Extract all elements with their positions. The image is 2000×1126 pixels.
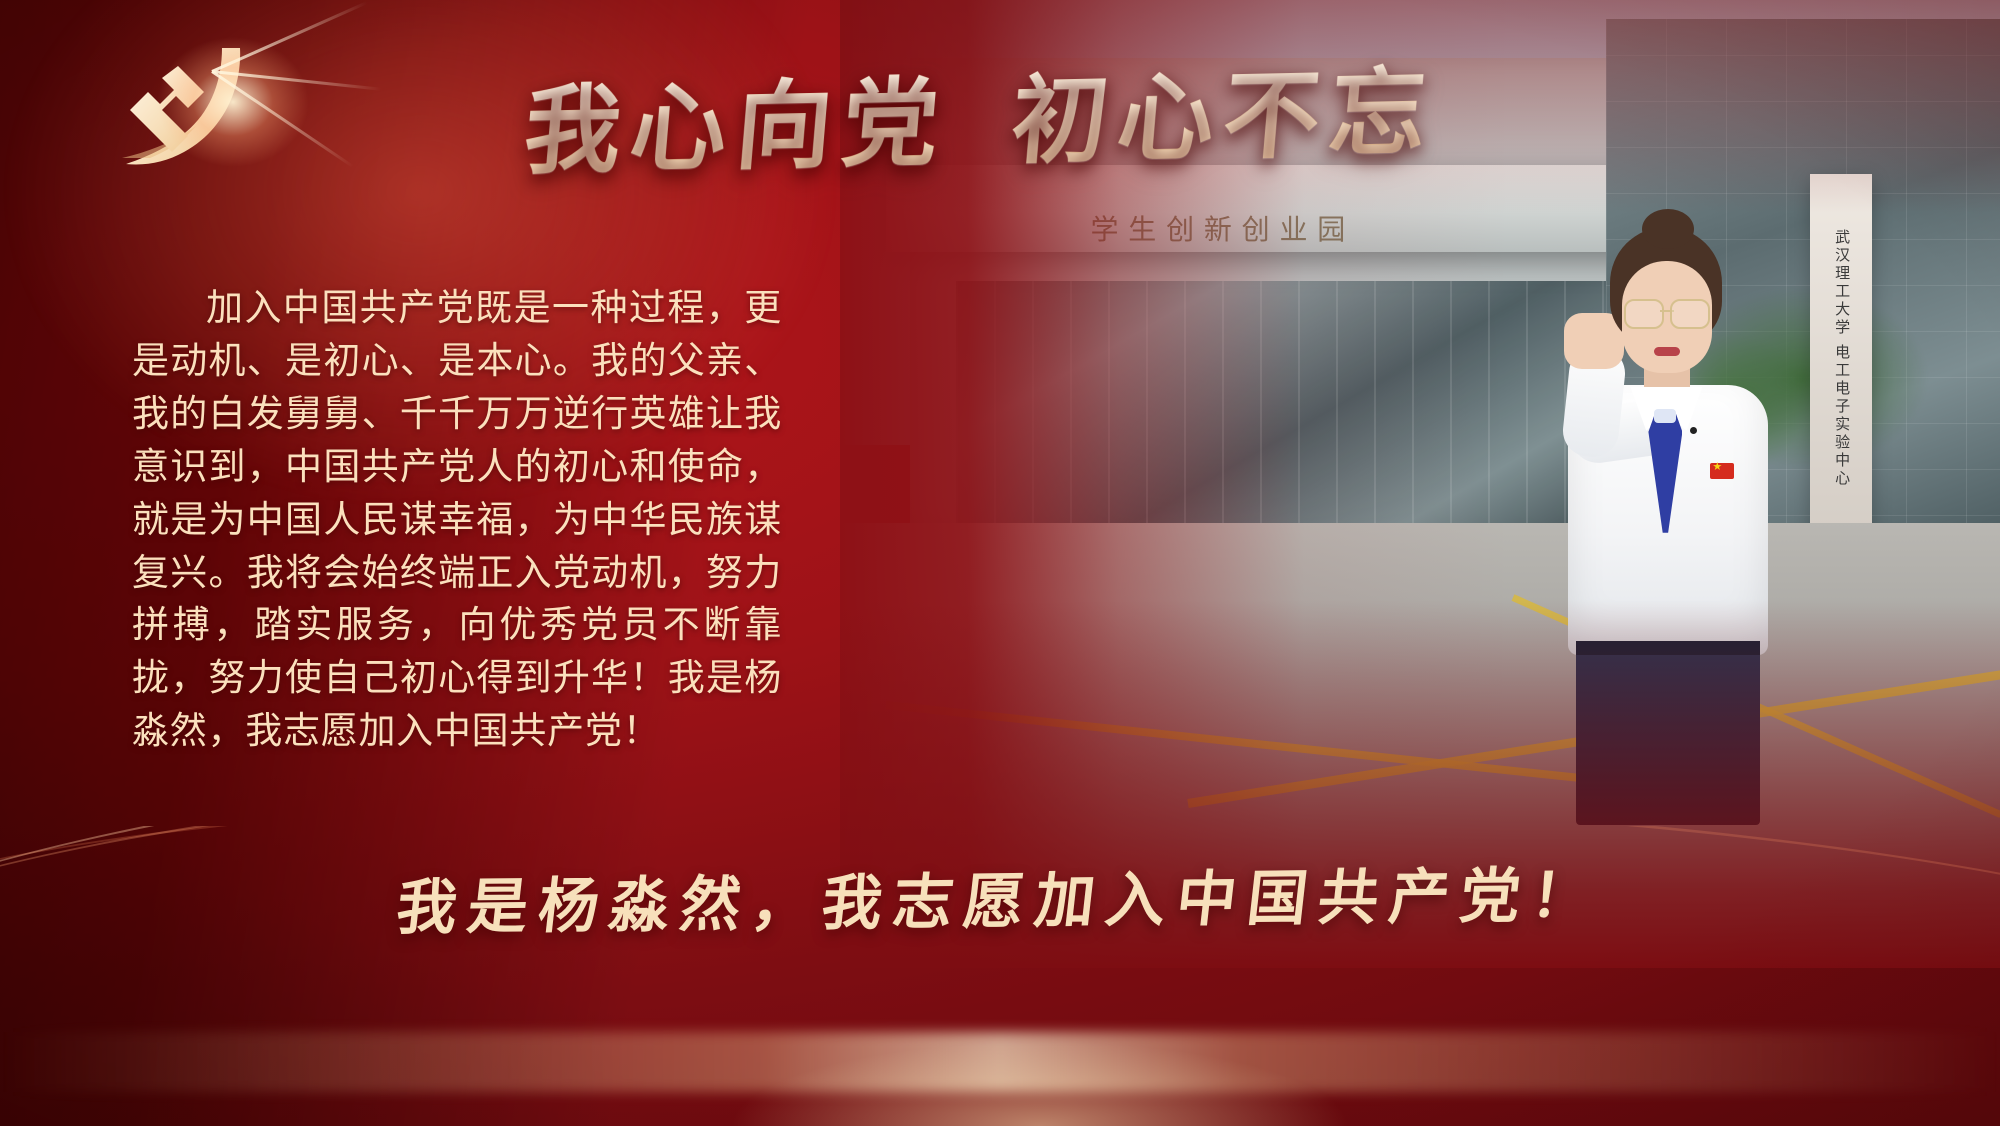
poster-canvas: 学生创新创业园 武汉理工大学 电工电子实验中心	[0, 0, 2000, 1126]
party-emblem-icon	[92, 26, 272, 186]
emblem-lens-flare	[128, 12, 338, 192]
ribbon-flare	[600, 1006, 1480, 1126]
body-paragraph: 加入中国共产党既是一种过程，更是动机、是初心、是本心。我的父亲、我的白发舅舅、千…	[132, 283, 782, 759]
headline-left: 我心向党	[521, 75, 952, 180]
headline-right: 初心不忘	[1008, 64, 1439, 169]
page-title: 我心向党 初心不忘	[513, 42, 1447, 201]
